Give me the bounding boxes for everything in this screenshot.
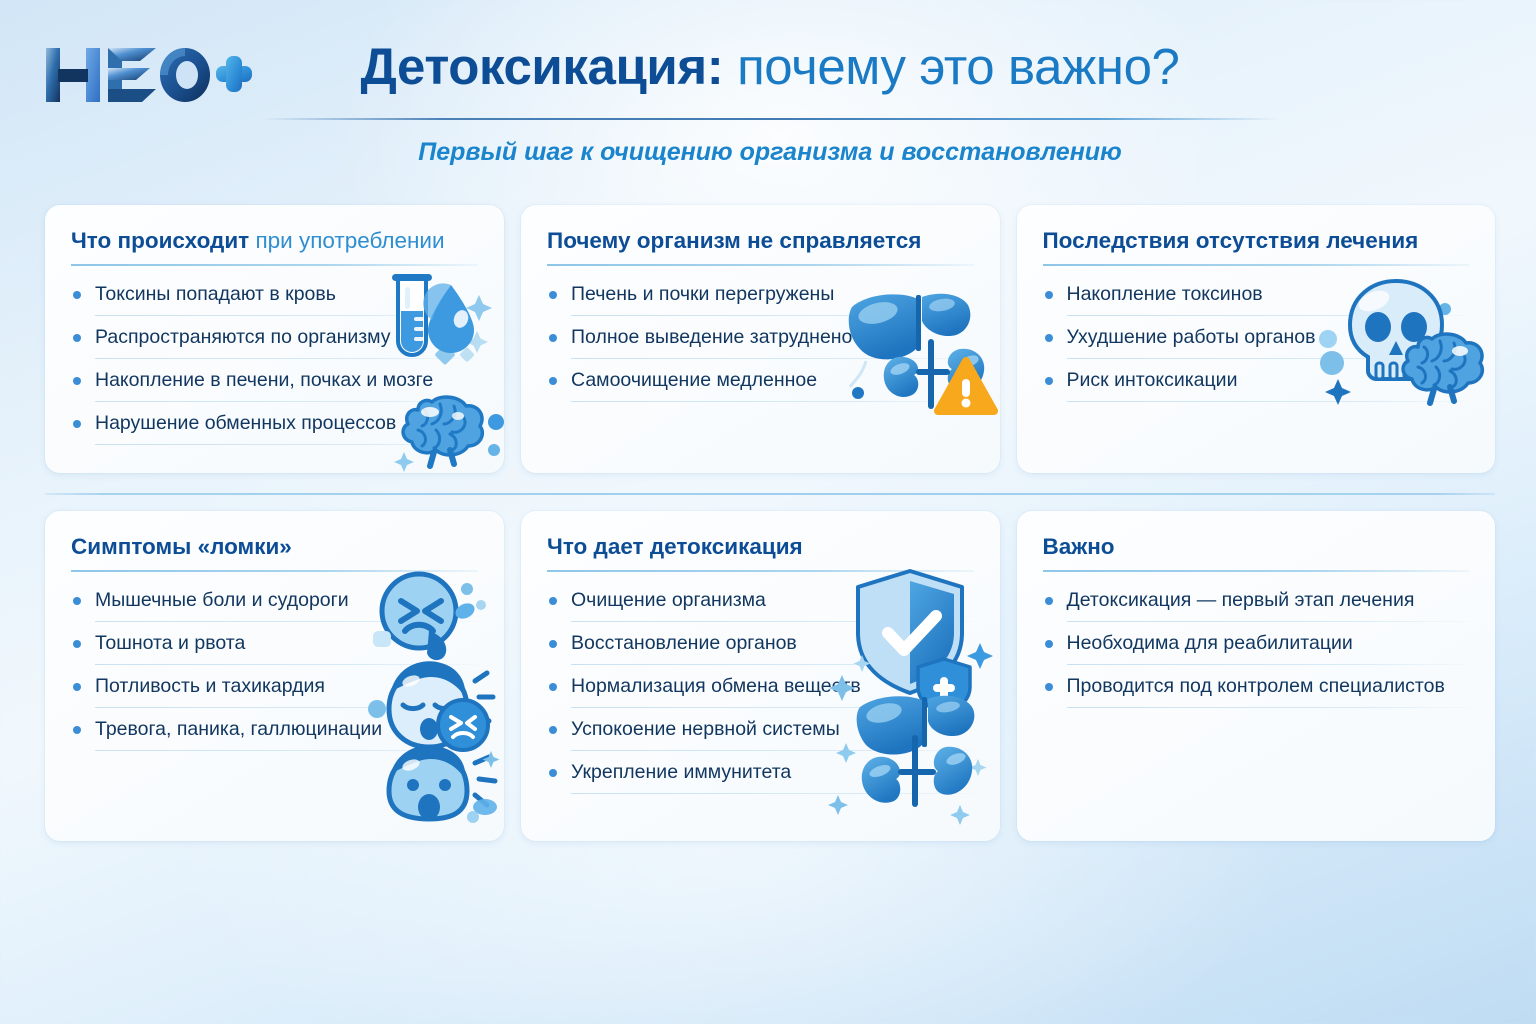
list-item-text: Ухудшение работы органов <box>1067 326 1316 348</box>
item-underline <box>571 621 973 622</box>
list-item-text: Нормализация обмена веществ <box>571 675 861 697</box>
card-title-underline <box>71 264 478 266</box>
card-title: Симптомы «ломки» <box>71 533 478 561</box>
item-underline <box>1067 621 1469 622</box>
list-item-text: Необходима для реабилитации <box>1067 632 1353 654</box>
page-title-light: почему это важно? <box>723 38 1179 95</box>
item-underline <box>95 315 478 316</box>
cards-row-top: Что происходит при употреблении Токсины … <box>45 205 1495 473</box>
page-title: Детоксикация: почему это важно? <box>260 36 1280 98</box>
item-underline <box>95 664 478 665</box>
item-underline <box>571 401 973 402</box>
brand-logo <box>44 42 254 108</box>
list-item: Успокоение нервной системы <box>547 716 973 751</box>
rows-divider <box>45 493 1495 495</box>
card-items-list: Печень и почки перегружены Полное выведе… <box>547 281 973 402</box>
logo-letter-n <box>46 48 100 102</box>
list-item: Детоксикация — первый этап лечения <box>1043 587 1469 622</box>
list-item-text: Проводится под контролем специалистов <box>1067 675 1445 697</box>
card-important[interactable]: Важно Детоксикация — первый этап лечения… <box>1017 511 1495 841</box>
card-title: Важно <box>1043 533 1469 561</box>
card-title-underline <box>1043 264 1469 266</box>
item-underline <box>1067 707 1469 708</box>
list-item: Тревога, паника, галлюцинации <box>71 716 478 751</box>
card-title-light: при употреблении <box>249 228 444 253</box>
list-item-text: Тошнота и рвота <box>95 632 245 654</box>
card-detox-benefits[interactable]: Что дает детоксикация Очищение организма… <box>521 511 999 841</box>
card-items-list: Мышечные боли и судороги Тошнота и рвота… <box>71 587 478 751</box>
list-item: Потливость и тахикардия <box>71 673 478 708</box>
card-title-bold: Что дает детоксикация <box>547 534 803 559</box>
list-item: Риск интоксикации <box>1043 367 1469 402</box>
list-item: Нормализация обмена веществ <box>547 673 973 708</box>
header-divider <box>262 118 1280 120</box>
item-underline <box>95 707 478 708</box>
item-underline <box>1067 664 1469 665</box>
card-title-underline <box>547 570 973 572</box>
card-items-list: Накопление токсинов Ухудшение работы орг… <box>1043 281 1469 402</box>
list-item: Очищение организма <box>547 587 973 622</box>
cards-grid: Что происходит при употреблении Токсины … <box>45 205 1495 841</box>
list-item: Накопление токсинов <box>1043 281 1469 316</box>
card-title: Последствия отсутствия лечения <box>1043 227 1469 255</box>
card-items-list: Детоксикация — первый этап лечения Необх… <box>1043 587 1469 708</box>
logo-plus-icon <box>216 56 252 92</box>
card-title-underline <box>547 264 973 266</box>
item-underline <box>1067 315 1469 316</box>
card-what-happens[interactable]: Что происходит при употреблении Токсины … <box>45 205 504 473</box>
logo-letter-o <box>160 48 210 102</box>
list-item-text: Печень и почки перегружены <box>571 283 834 305</box>
item-underline <box>95 444 478 445</box>
list-item: Необходима для реабилитации <box>1043 630 1469 665</box>
card-title-underline <box>71 570 478 572</box>
item-underline <box>1067 401 1469 402</box>
list-item: Самоочищение медленное <box>547 367 973 402</box>
list-item-text: Укрепление иммунитета <box>571 761 791 783</box>
card-title: Что дает детоксикация <box>547 533 973 561</box>
shocked-face-icon <box>389 745 500 823</box>
card-withdrawal-symptoms[interactable]: Симптомы «ломки» Мышечные боли и судорог… <box>45 511 504 841</box>
list-item-text: Потливость и тахикардия <box>95 675 325 697</box>
list-item: Накопление в печени, почках и мозге <box>71 367 478 402</box>
card-title-underline <box>1043 570 1469 572</box>
item-underline <box>95 750 478 751</box>
item-underline <box>571 707 973 708</box>
list-item: Тошнота и рвота <box>71 630 478 665</box>
list-item-text: Самоочищение медленное <box>571 369 817 391</box>
cards-row-bottom: Симптомы «ломки» Мышечные боли и судорог… <box>45 511 1495 841</box>
list-item: Ухудшение работы органов <box>1043 324 1469 359</box>
page-header: Детоксикация: почему это важно? Первый ш… <box>0 0 1536 190</box>
list-item: Укрепление иммунитета <box>547 759 973 794</box>
list-item-text: Восстановление органов <box>571 632 797 654</box>
list-item-text: Очищение организма <box>571 589 766 611</box>
list-item-text: Токсины попадают в кровь <box>95 283 336 305</box>
card-title-bold: Симптомы «ломки» <box>71 534 292 559</box>
card-title: Почему организм не справляется <box>547 227 973 255</box>
item-underline <box>95 621 478 622</box>
list-item-text: Полное выведение затруднено <box>571 326 852 348</box>
list-item-text: Накопление в печени, почках и мозге <box>95 369 433 391</box>
item-underline <box>571 793 973 794</box>
list-item-text: Риск интоксикации <box>1067 369 1238 391</box>
item-underline <box>1067 358 1469 359</box>
list-item: Полное выведение затруднено <box>547 324 973 359</box>
list-item-text: Накопление токсинов <box>1067 283 1263 305</box>
list-item: Восстановление органов <box>547 630 973 665</box>
card-title-bold: Почему организм не справляется <box>547 228 921 253</box>
page-title-bold: Детоксикация: <box>361 38 724 95</box>
list-item: Мышечные боли и судороги <box>71 587 478 622</box>
list-item: Распространяются по организму <box>71 324 478 359</box>
item-underline <box>571 664 973 665</box>
card-no-treatment-consequences[interactable]: Последствия отсутствия лечения Накоплени… <box>1017 205 1495 473</box>
list-item: Токсины попадают в кровь <box>71 281 478 316</box>
card-items-list: Токсины попадают в кровь Распространяютс… <box>71 281 478 445</box>
list-item-text: Мышечные боли и судороги <box>95 589 349 611</box>
list-item: Проводится под контролем специалистов <box>1043 673 1469 708</box>
list-item-text: Успокоение нервной системы <box>571 718 840 740</box>
card-title-bold: Важно <box>1043 534 1115 559</box>
list-item: Печень и почки перегружены <box>547 281 973 316</box>
card-why-body-fails[interactable]: Почему организм не справляется Печень и … <box>521 205 999 473</box>
card-title-bold: Последствия отсутствия лечения <box>1043 228 1419 253</box>
item-underline <box>571 315 973 316</box>
page-subtitle: Первый шаг к очищению организма и восста… <box>260 138 1280 167</box>
card-title-bold: Что происходит <box>71 228 249 253</box>
item-underline <box>571 358 973 359</box>
item-underline <box>571 750 973 751</box>
logo-letter-e <box>108 48 156 102</box>
card-title: Что происходит при употреблении <box>71 227 478 255</box>
list-item-text: Распространяются по организму <box>95 326 391 348</box>
list-item-text: Нарушение обменных процессов <box>95 412 396 434</box>
list-item-text: Тревога, паника, галлюцинации <box>95 718 382 740</box>
item-underline <box>95 358 478 359</box>
item-underline <box>95 401 478 402</box>
list-item-text: Детоксикация — первый этап лечения <box>1067 589 1415 611</box>
card-items-list: Очищение организма Восстановление органо… <box>547 587 973 794</box>
list-item: Нарушение обменных процессов <box>71 410 478 445</box>
